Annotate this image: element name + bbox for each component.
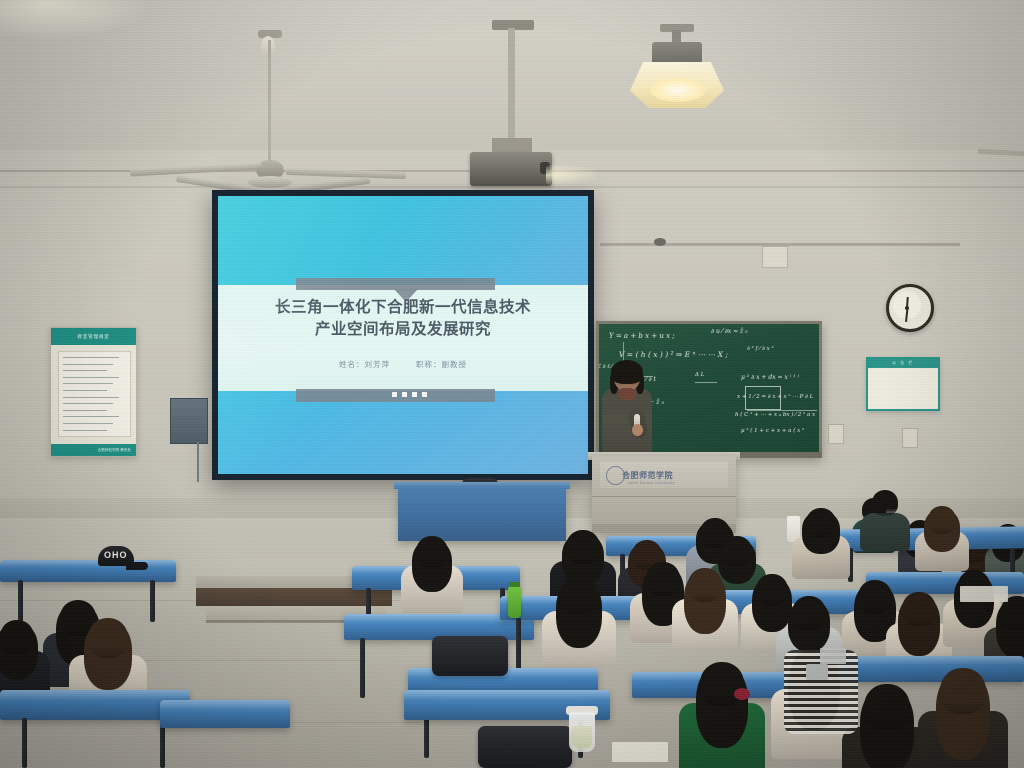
ceiling-light-glow [0,0,150,40]
student-head [928,506,956,534]
notice-header: 公 告 栏 [868,359,938,368]
poster-text-body [58,351,131,437]
desk-leg [360,638,365,698]
poster-text-row [63,383,113,384]
chalk-underline [747,410,817,411]
student-head [940,668,986,714]
wall-control-box[interactable] [170,398,208,444]
stage-platform-face [196,588,392,606]
hair-scrunchie [734,688,750,700]
student-head [722,536,752,566]
classroom-photo-scene: 长三角一体化下合肥新一代信息技术 产业空间布局及发展研究 姓名：刘芳萍 职称：副… [0,0,1024,768]
notice-header-text: 公 告 栏 [868,359,938,368]
student-head [872,490,898,516]
clock-center-pin [905,306,909,310]
poster-text-row [63,390,107,391]
chalk-formula: ∂ ² f ⁄ ∂ x ² [747,346,774,352]
desk-leg [150,580,155,622]
poster-text-row [63,377,119,378]
poster-footer: 合肥师范学院 教务处 [51,444,136,456]
projection-screen[interactable]: 长三角一体化下合肥新一代信息技术 产业空间布局及发展研究 姓名：刘芳萍 职称：副… [212,190,594,480]
backpack[interactable] [432,636,508,676]
student-head [88,618,128,658]
student-head [756,574,788,606]
fan-down-rod [268,40,271,170]
presenter-title: 职称：副教授 [416,359,467,370]
student-head [858,580,892,614]
student-head [688,568,722,602]
student-desk[interactable] [0,560,176,582]
projector-beam-glow [546,165,596,185]
presenter-collar [618,388,636,400]
motion-sensor-icon [654,238,666,246]
chalk-formula: μ ² ∂ x + dx ≈ x ⁽ ¹ ⁾ [741,374,799,381]
slide-accent-bar-top [296,278,496,290]
university-logo-icon [606,466,625,485]
wall-clock-icon [886,284,934,332]
presenter-hand [632,424,643,436]
cap-text: OHO [104,550,128,560]
student-head [792,596,826,630]
chalk-formula: x + 1 ⁄ 2 = ∂ x + x ⁿ ⋯ P ∂ L [737,394,813,400]
backpack[interactable] [478,726,572,768]
desk-leg [22,718,27,768]
poster-text-row [63,416,119,417]
chalk-formula: μ ² ( 1 + c + x + a ( x ² [741,428,804,434]
student-torso [860,513,910,551]
student-head [864,684,910,730]
student-head [560,576,598,614]
student-head [902,592,936,626]
slide-top-gradient [218,196,588,285]
av-console-desk [398,487,566,541]
slide-title-line-2: 产业空间布局及发展研究 [240,319,566,341]
chalk-formula: ∂ u ⁄ ∂x ≈ ẑ ₀ [711,328,748,335]
slide-dot [402,392,407,397]
presenter-name: 姓名：刘芳萍 [339,359,390,370]
lamp-light-core [650,78,706,102]
slide-dot-group [392,392,427,397]
slide-dot [392,392,397,397]
phone-device[interactable] [820,648,846,664]
lamp-cap [652,42,702,64]
chalk-formula: Y = a + b x + u x ; [609,332,675,340]
wall-plate [762,246,788,268]
poster-footer-text: 合肥师范学院 教务处 [51,444,136,456]
wall-seam [0,186,1024,188]
poster-text-row [63,423,113,424]
chalk-formula: V = ( h ( x ) ) ² ⇒ E ⁿ ⋯ ⋯ X ; [619,350,728,359]
fan-hub-cap [248,176,292,188]
chalk-fraction-bar [695,382,717,383]
poster-header-text: 教室管理规定 [51,328,136,345]
poster-text-row [63,403,113,404]
chalk-formula: Δ L [695,372,704,378]
control-box-cable [197,442,199,482]
poster-text-row [63,370,107,371]
drink-cup-contents [572,726,592,748]
slide-title-line-1: 长三角一体化下合肥新一代信息技术 [240,297,566,319]
water-bottle-cap [509,582,520,587]
student-head [566,530,600,564]
slide-canvas: 长三角一体化下合肥新一代信息技术 产业空间布局及发展研究 姓名：刘芳萍 职称：副… [218,196,588,474]
poster-text-row [63,410,107,411]
water-bottle[interactable] [508,586,521,618]
student-desk[interactable] [160,700,290,728]
poster-text-row [63,357,119,358]
poster-text-row [63,364,113,365]
poster-header: 教室管理规定 [51,328,136,345]
student-head [700,662,744,706]
slide-dot [422,392,427,397]
power-outlet-icon [902,428,918,448]
paper-sheet[interactable] [960,586,1008,602]
desk-leg [18,580,23,622]
student-head [416,536,448,568]
cap-brim [126,562,148,570]
poster-text-row [63,430,107,431]
projector-down-rod [508,28,515,140]
chalk-formula: h ( C ² + ⋯ + x ₀ bx ) ⁄ 2 ⁿ a x [735,412,815,418]
paper-sheet[interactable] [612,742,668,762]
slide-title: 长三角一体化下合肥新一代信息技术 产业空间布局及发展研究 [240,297,566,341]
podium-seam [592,496,736,497]
slide-dot [412,392,417,397]
student-head [0,620,34,654]
institution-name-en: Hefei Normal University [628,481,675,485]
slide-subtitle: 姓名：刘芳萍 职称：副教授 [240,359,566,370]
power-outlet-icon [828,424,844,444]
student-head [646,562,680,596]
desk-leg [516,618,521,668]
projector-bracket [492,138,532,152]
phone-in-pocket[interactable] [806,664,828,680]
wall-notice-board: 公 告 栏 [866,357,940,411]
institution-name-cn: 合肥师范学院 [622,470,673,481]
presenter-hair-top [611,360,643,384]
wall-poster-regulations: 教室管理规定 合肥师范学院 教务处 [50,327,137,457]
student-head [806,508,836,538]
poster-text-row [63,397,119,398]
